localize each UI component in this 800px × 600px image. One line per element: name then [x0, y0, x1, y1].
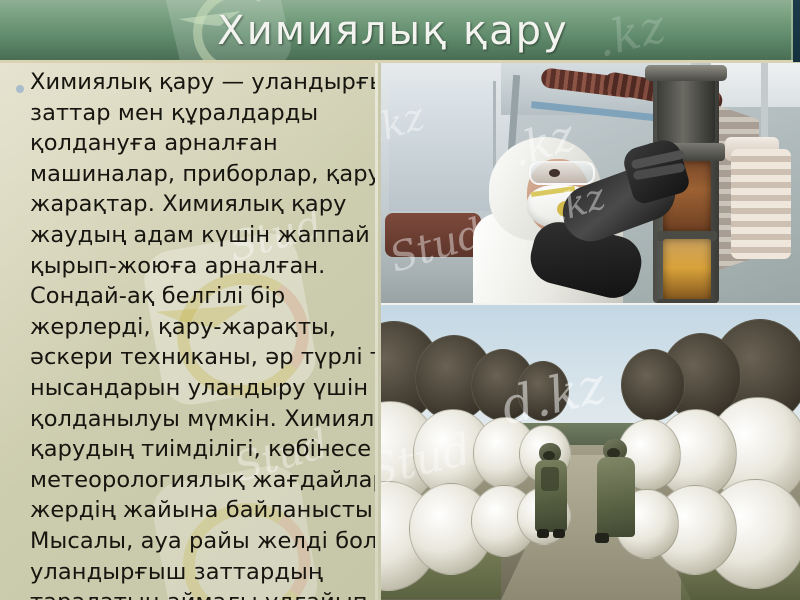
body-text-panel: Stud Stud Stud Химиялық қару — уландырғы…: [0, 63, 378, 600]
body-line: жарақтар. Химиялық қару: [30, 189, 378, 220]
header-right-strip: [793, 0, 800, 62]
slide-header: .kz Химиялық қару: [0, 0, 800, 62]
body-line: Химиялық қару — уландырғыш: [30, 67, 378, 98]
bullet-point-icon: [16, 85, 24, 93]
body-line: уландырғыш заттардың: [30, 557, 378, 588]
page-title: Химиялық қару: [0, 4, 786, 58]
body-line: жерлерді, қару-жарақты,: [30, 312, 378, 343]
body-line: машиналар, приборлар, қару-: [30, 159, 378, 190]
body-line: таралатын аймағы ұлғайып,: [30, 587, 378, 600]
body-line: жердің жайына байланысты.: [30, 495, 378, 526]
body-line: нысандарын уландыру үшін де: [30, 373, 378, 404]
body-line: қолданылуы мүмкін. Химиялық: [30, 404, 378, 435]
panel-right-edge: [375, 63, 378, 600]
body-line: жаудың адам күшін жаппай: [30, 220, 378, 251]
body-line: Мысалы, ауа райы желді болса,: [30, 526, 378, 557]
body-paragraph: Химиялық қару — уландырғыш заттар мен құ…: [30, 67, 378, 600]
body-line: әскери техниканы, әр түрлі тыл: [30, 342, 378, 373]
presentation-slide: .kz Химиялық қару Stud Stud Stud Химиялы…: [0, 0, 800, 600]
body-line: Сондай-ақ белгілі бір: [30, 281, 378, 312]
hazmat-worker-photo: .kz Stud .kz .kz: [381, 63, 800, 303]
body-line: қолдануға арналған: [30, 128, 378, 159]
chemical-barrels-photo: d.kz Stud: [381, 305, 800, 600]
body-line: қарудың тиімділігі, көбінесе: [30, 434, 378, 465]
body-line: метеорологиялық жағдайларға,: [30, 465, 378, 496]
body-line: заттар мен құралдарды: [30, 98, 378, 129]
body-line: қырып-жоюға арналған.: [30, 251, 378, 282]
